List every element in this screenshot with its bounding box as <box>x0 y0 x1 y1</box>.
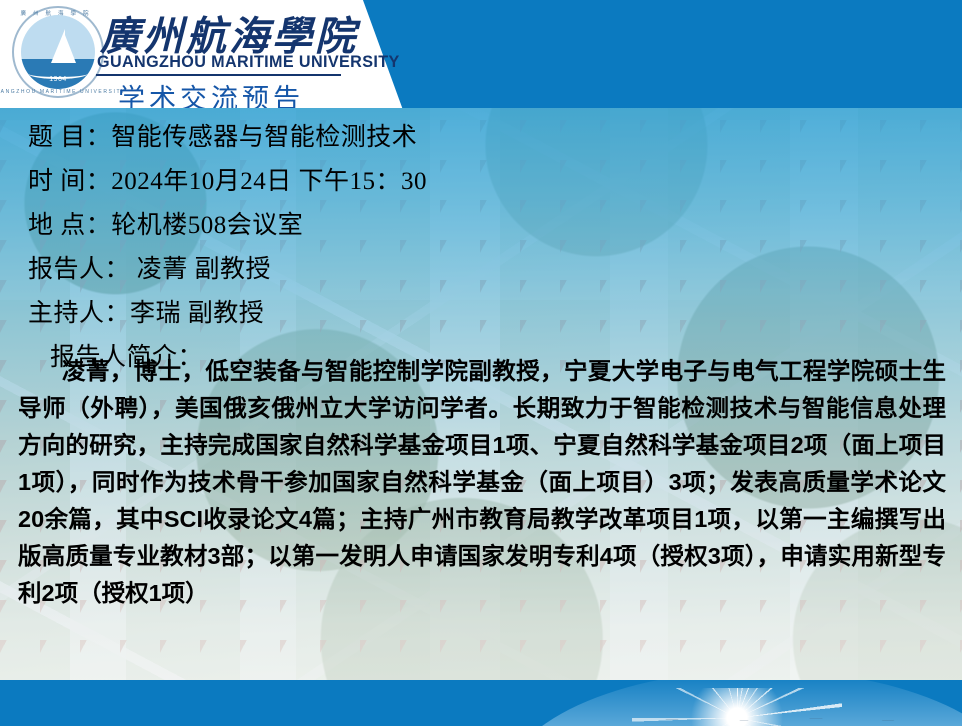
announcement-poster: 廣州航海學院 GUANGZHOU MARITIME UNIVERSITY 196… <box>0 0 962 726</box>
poster-footer <box>0 680 962 726</box>
field-row-host: 主持人：李瑞 副教授 <box>28 292 628 336</box>
field-row-topic: 题 目：智能传感器与智能检测技术 <box>28 116 628 160</box>
university-name-en: GUANGZHOU MARITIME UNIVERSITY <box>97 52 400 72</box>
field-row-location: 地 点：轮机楼508会议室 <box>28 204 628 248</box>
university-logo: 廣州航海學院 GUANGZHOU MARITIME UNIVERSITY 196… <box>12 6 104 98</box>
field-row-time: 时 间：2024年10月24日 下午15：30 <box>28 160 628 204</box>
logo-inner-disc: 1964 <box>21 15 95 89</box>
poster-header: 廣州航海學院 GUANGZHOU MARITIME UNIVERSITY 196… <box>0 0 962 108</box>
logo-sail-right-icon <box>65 35 76 63</box>
poster-body: 题 目：智能传感器与智能检测技术 时 间：2024年10月24日 下午15：30… <box>0 108 962 680</box>
field-label-location: 地 点： <box>28 212 111 239</box>
event-details-list: 题 目：智能传感器与智能检测技术 时 间：2024年10月24日 下午15：30… <box>28 116 628 380</box>
logo-ring-text-en: GUANGZHOU MARITIME UNIVERSITY <box>0 89 126 95</box>
logo-founding-year: 1964 <box>21 76 95 83</box>
logo-sail-left-icon <box>51 29 65 63</box>
footer-ships-silhouette-icon <box>642 712 942 724</box>
field-value-time: 2024年10月24日 下午15：30 <box>111 168 427 195</box>
field-value-host: 李瑞 副教授 <box>130 300 264 327</box>
field-value-speaker: 凌菁 副教授 <box>130 256 271 283</box>
field-label-host: 主持人： <box>28 300 130 327</box>
field-label-speaker: 报告人： <box>28 256 130 283</box>
header-divider <box>96 74 341 76</box>
field-label-time: 时 间： <box>28 168 111 195</box>
poster-subtitle: 学术交流预告 <box>118 77 304 108</box>
field-row-speaker: 报告人： 凌菁 副教授 <box>28 248 628 292</box>
field-value-topic: 智能传感器与智能检测技术 <box>111 124 417 151</box>
field-value-location: 轮机楼508会议室 <box>111 212 303 239</box>
speaker-biography-paragraph: 凌菁，博士，低空装备与智能控制学院副教授，宁夏大学电子与电气工程学院硕士生导师（… <box>18 353 946 612</box>
field-label-topic: 题 目： <box>28 124 111 151</box>
